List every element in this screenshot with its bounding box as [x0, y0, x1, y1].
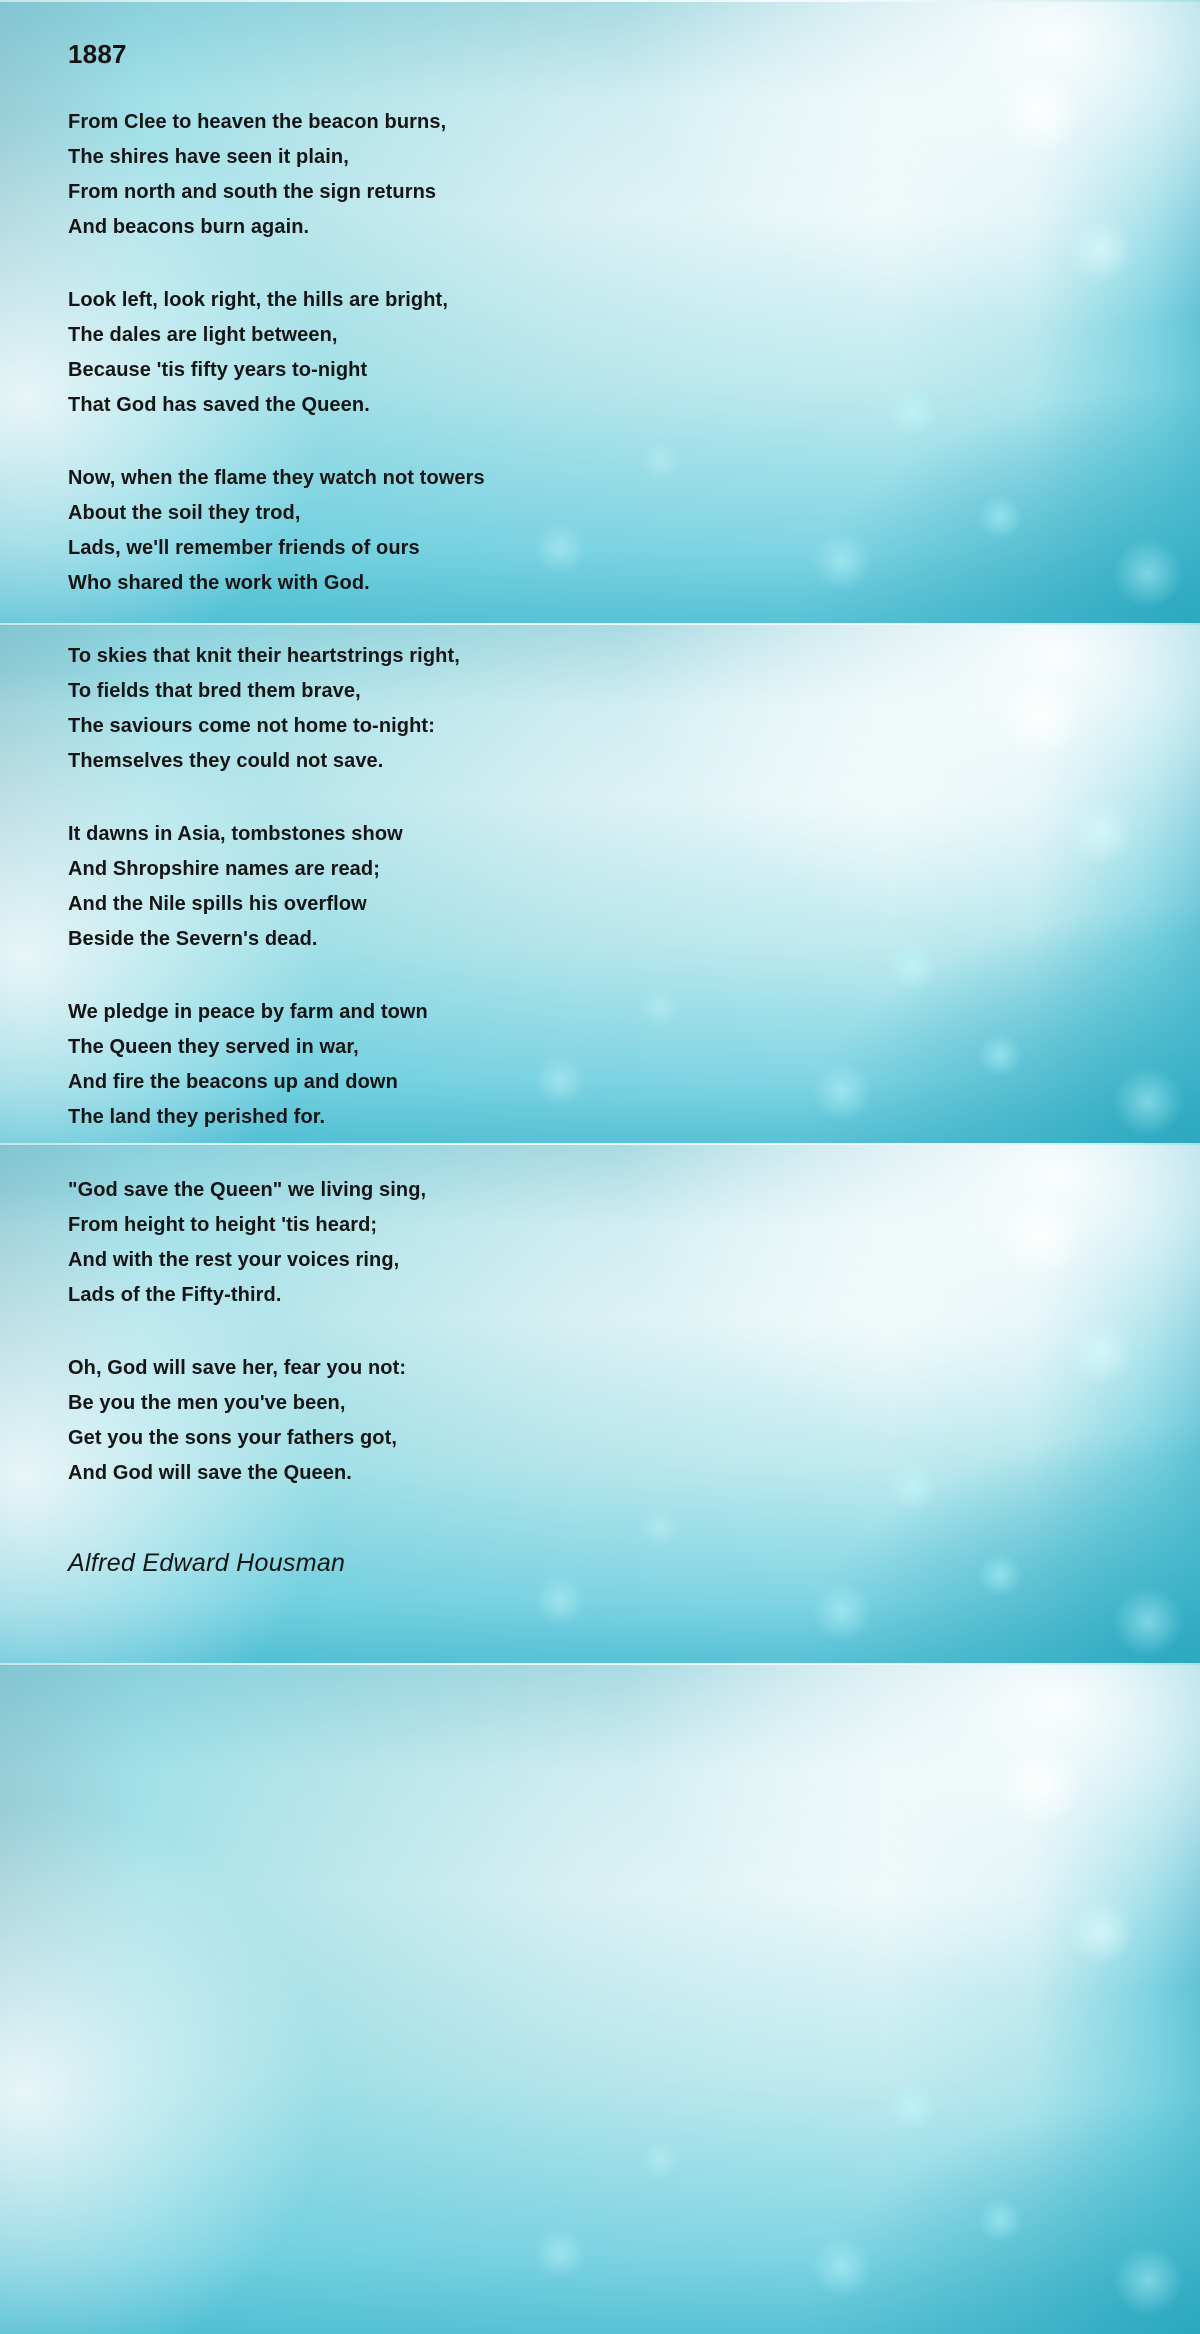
- poem-line: The land they perished for.: [68, 1100, 1200, 1135]
- poem-line: And Shropshire names are read;: [68, 852, 1200, 887]
- poem-line: Beside the Severn's dead.: [68, 922, 1200, 957]
- poem-line: "God save the Queen" we living sing,: [68, 1173, 1200, 1208]
- poem-line: It dawns in Asia, tombstones show: [68, 817, 1200, 852]
- poem-line: Get you the sons your fathers got,: [68, 1421, 1200, 1456]
- poem-stanza-3: Now, when the flame they watch not tower…: [68, 461, 1200, 601]
- poem-title: 1887: [68, 0, 1200, 71]
- poem-line: The Queen they served in war,: [68, 1030, 1200, 1065]
- poem-author: Alfred Edward Housman: [68, 1549, 1200, 1578]
- poem-line: Who shared the work with God.: [68, 566, 1200, 601]
- poem-stanza-2: Look left, look right, the hills are bri…: [68, 283, 1200, 423]
- poem-content: 1887 From Clee to heaven the beacon burn…: [0, 0, 1200, 1578]
- poem-line: To fields that bred them brave,: [68, 674, 1200, 709]
- poem-line: About the soil they trod,: [68, 496, 1200, 531]
- poem-line: That God has saved the Queen.: [68, 388, 1200, 423]
- poem-stanza-1: From Clee to heaven the beacon burns, Th…: [68, 105, 1200, 245]
- poem-line: And God will save the Queen.: [68, 1456, 1200, 1491]
- poem-line: Now, when the flame they watch not tower…: [68, 461, 1200, 496]
- poem-stanza-4: To skies that knit their heartstrings ri…: [68, 639, 1200, 779]
- poem-line: Lads of the Fifty-third.: [68, 1278, 1200, 1313]
- poem-line: Oh, God will save her, fear you not:: [68, 1351, 1200, 1386]
- poem-stanza-8: Oh, God will save her, fear you not: Be …: [68, 1351, 1200, 1491]
- poem-line: Because 'tis fifty years to-night: [68, 353, 1200, 388]
- poem-line: Lads, we'll remember friends of ours: [68, 531, 1200, 566]
- poem-stanza-5: It dawns in Asia, tombstones show And Sh…: [68, 817, 1200, 957]
- poem-line: Themselves they could not save.: [68, 744, 1200, 779]
- poem-line: From Clee to heaven the beacon burns,: [68, 105, 1200, 140]
- poem-line: Be you the men you've been,: [68, 1386, 1200, 1421]
- poem-page: 1887 From Clee to heaven the beacon burn…: [0, 0, 1200, 2334]
- poem-line: And with the rest your voices ring,: [68, 1243, 1200, 1278]
- poem-line: To skies that knit their heartstrings ri…: [68, 639, 1200, 674]
- poem-line: The saviours come not home to-night:: [68, 709, 1200, 744]
- poem-stanza-7: "God save the Queen" we living sing, Fro…: [68, 1173, 1200, 1313]
- poem-line: We pledge in peace by farm and town: [68, 995, 1200, 1030]
- poem-line: Look left, look right, the hills are bri…: [68, 283, 1200, 318]
- poem-line: From north and south the sign returns: [68, 175, 1200, 210]
- background-band-4: [0, 1663, 1200, 2334]
- poem-line: The shires have seen it plain,: [68, 140, 1200, 175]
- poem-line: The dales are light between,: [68, 318, 1200, 353]
- poem-stanza-6: We pledge in peace by farm and town The …: [68, 995, 1200, 1135]
- poem-line: And beacons burn again.: [68, 210, 1200, 245]
- poem-line: And the Nile spills his overflow: [68, 887, 1200, 922]
- poem-line: And fire the beacons up and down: [68, 1065, 1200, 1100]
- poem-line: From height to height 'tis heard;: [68, 1208, 1200, 1243]
